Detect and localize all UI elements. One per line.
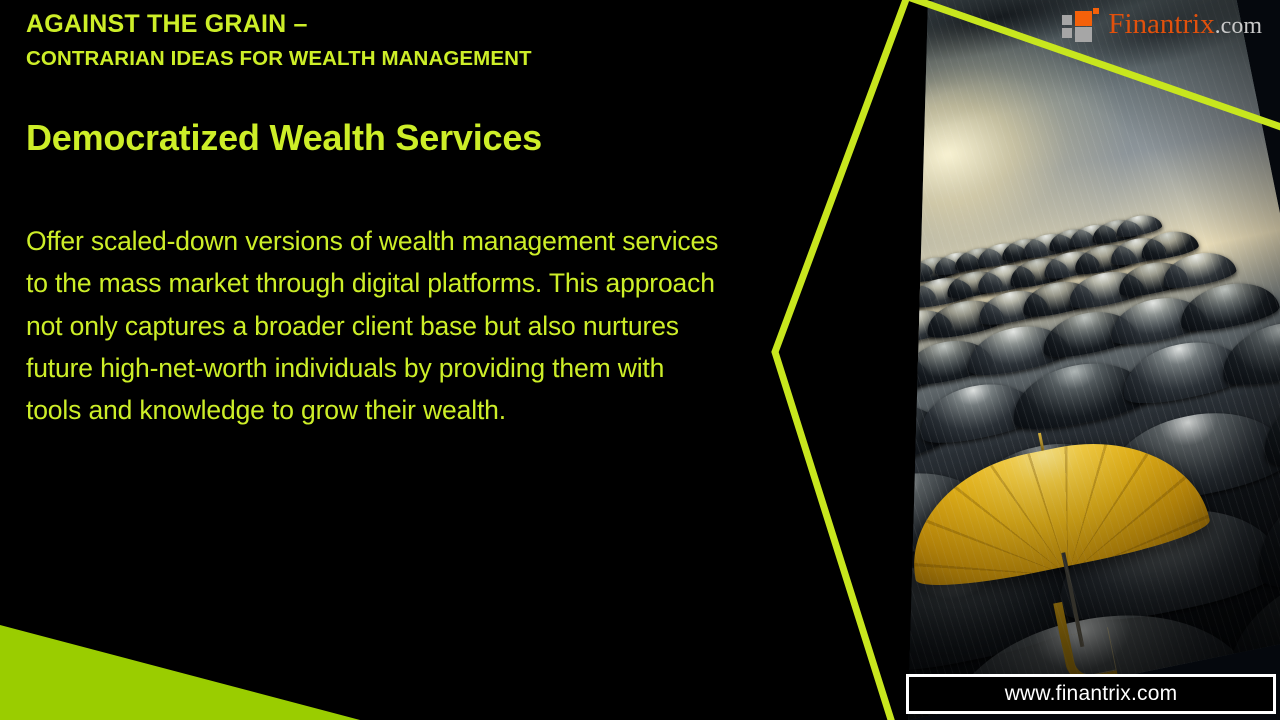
logo-brand: Finantrix	[1108, 8, 1214, 40]
page-title: Democratized Wealth Services	[26, 71, 726, 157]
umbrella-photo	[676, 0, 1280, 720]
accent-line-left	[775, 0, 908, 720]
finantrix-logo[interactable]: Finantrix.com	[1062, 7, 1262, 41]
kicker-line-1: AGAINST THE GRAIN –	[26, 0, 726, 38]
slide: AGAINST THE GRAIN – CONTRARIAN IDEAS FOR…	[0, 0, 1280, 720]
url-plate[interactable]: www.finantrix.com	[906, 674, 1276, 714]
body-paragraph: Offer scaled-down versions of wealth man…	[26, 156, 726, 431]
photo-vignette	[676, 0, 1280, 720]
text-column: AGAINST THE GRAIN – CONTRARIAN IDEAS FOR…	[26, 0, 726, 431]
logo-tld: .com	[1215, 13, 1262, 39]
kicker-line-2: CONTRARIAN IDEAS FOR WEALTH MANAGEMENT	[26, 38, 726, 71]
logo-wordmark: Finantrix.com	[1108, 10, 1262, 39]
squares-grid-icon	[1062, 7, 1100, 41]
corner-triangle	[0, 625, 360, 720]
footer-url: www.finantrix.com	[1005, 682, 1178, 706]
